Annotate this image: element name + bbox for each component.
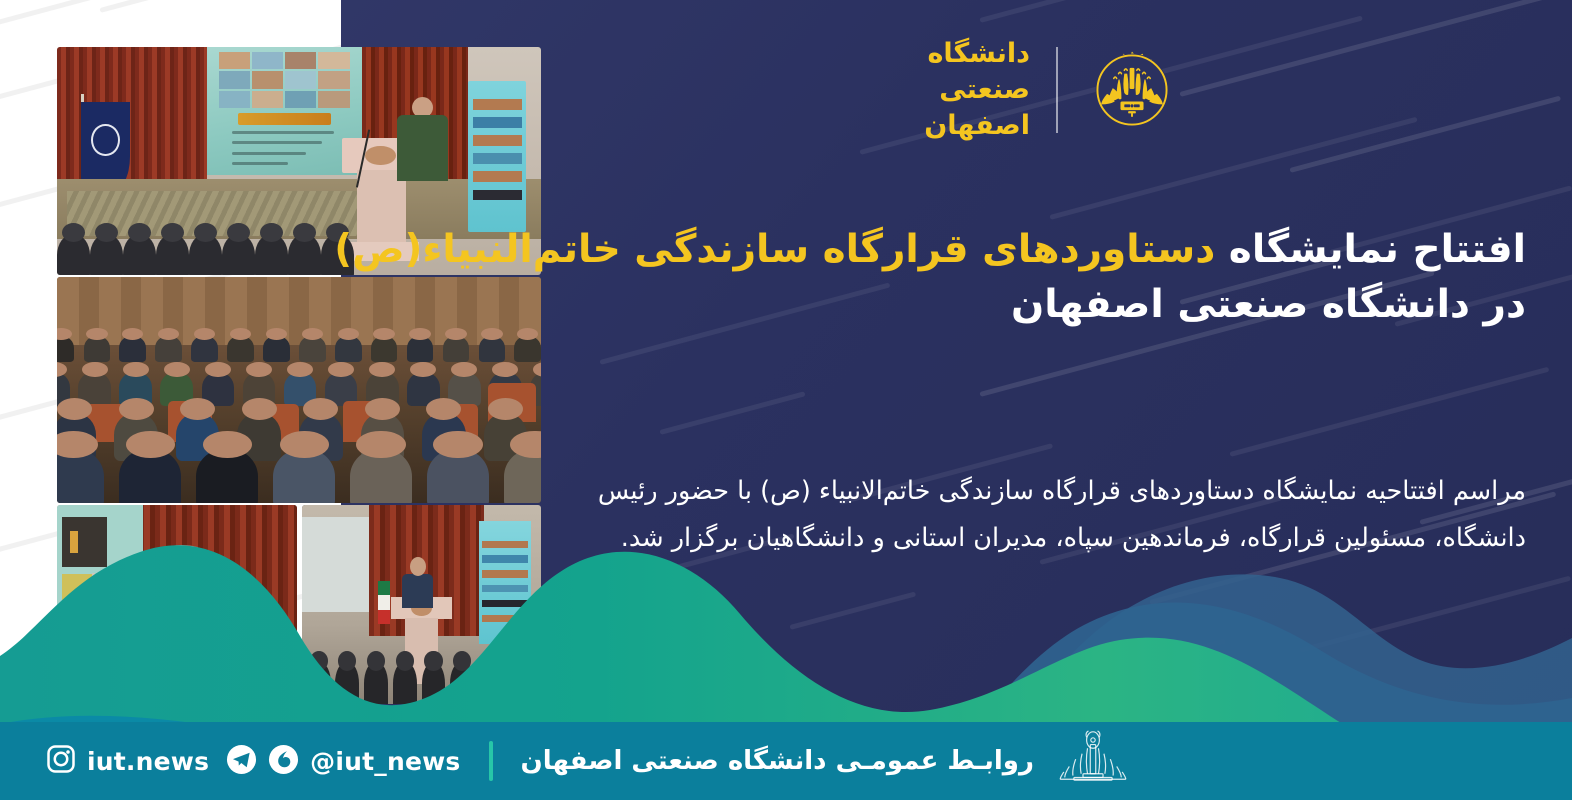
instagram-handle[interactable]: iut.news — [87, 747, 209, 776]
logo-divider — [1056, 47, 1058, 133]
iut-emblem-icon — [1084, 42, 1180, 138]
university-logo-block: دانشگاه صنعتی اصفهان — [924, 36, 1180, 144]
university-name-line-3: اصفهان — [924, 108, 1030, 144]
telegram-icon[interactable] — [226, 744, 257, 779]
photo-audience — [57, 277, 541, 503]
projection-screen — [207, 47, 362, 175]
bale-icon[interactable] — [268, 744, 299, 779]
speaker-officer — [396, 97, 449, 179]
public-relations-label: روابـط عمومـی دانشگاه صنعتی اصفهان — [521, 746, 1034, 776]
iut-outline-mark-icon — [1056, 730, 1130, 792]
bale-handle[interactable]: @iut_news — [310, 747, 460, 776]
university-name-line-1: دانشگاه — [924, 36, 1030, 72]
university-name: دانشگاه صنعتی اصفهان — [924, 36, 1056, 144]
lede-paragraph: مراسم افتتاحیه نمایشگاه دستاوردهای قرارگ… — [516, 468, 1526, 562]
footer-divider — [489, 741, 493, 781]
university-name-line-2: صنعتی — [924, 72, 1030, 108]
instagram-icon[interactable] — [46, 744, 76, 778]
exhibition-banner — [468, 81, 526, 231]
social-links: iut.news @iut_news — [46, 744, 461, 779]
front-audience — [57, 211, 357, 275]
headline-line-1: افتتاح نمایشگاه دستاوردهای قرارگاه سازند… — [526, 222, 1526, 277]
headline: افتتاح نمایشگاه دستاوردهای قرارگاه سازند… — [526, 222, 1526, 333]
headline-line-1-plain: افتتاح نمایشگاه — [1215, 227, 1526, 272]
headline-line-2: در دانشگاه صنعتی اصفهان — [526, 277, 1526, 332]
headline-line-1-highlight: دستاوردهای قرارگاه سازندگی خاتم‌النبیاء(… — [334, 227, 1215, 272]
poster-canvas: دانشگاه صنعتی اصفهان — [0, 0, 1572, 800]
footer-bar: iut.news @iut_news روابـط ع — [0, 722, 1572, 800]
